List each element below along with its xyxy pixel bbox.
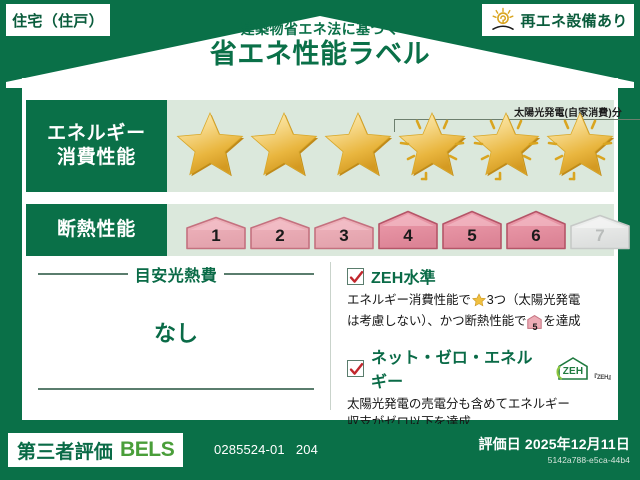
svg-text:ZEH: ZEH bbox=[563, 366, 583, 377]
star-solar bbox=[395, 109, 469, 183]
zeh-desc-part3: を達成 bbox=[543, 314, 580, 328]
energy-head-line2: 消費性能 bbox=[57, 146, 136, 170]
zeh-logo-subtext: 『ZEH』 bbox=[591, 372, 614, 381]
insulation-level-3: 3 bbox=[313, 216, 375, 250]
insulation-level-number: 3 bbox=[313, 226, 375, 246]
insulation-head-text: 断熱性能 bbox=[57, 218, 136, 242]
zeh-standard-block: ZEH水準 エネルギー消費性能で3つ（太陽光発電 は考慮しない）、かつ断熱性能で… bbox=[347, 264, 614, 334]
inline-house-number: 5 bbox=[527, 321, 542, 334]
insulation-performance-label-head: 断熱性能 bbox=[26, 204, 167, 256]
net-zero-title-row: ネット・ゼロ・エネルギー ZEH 『ZEH』 bbox=[347, 344, 614, 392]
utility-cost-bottom-rule bbox=[38, 388, 314, 390]
zeh-desc-part2: は考慮しない）、かつ断熱性能で bbox=[347, 314, 526, 328]
net-zero-checkbox[interactable] bbox=[347, 360, 364, 377]
zeh-panel: ZEH水準 エネルギー消費性能で3つ（太陽光発電 は考慮しない）、かつ断熱性能で… bbox=[330, 262, 614, 410]
page-title: 建築物省エネ法に基づく 省エネ性能ラベル bbox=[0, 22, 640, 72]
star-filled bbox=[173, 109, 247, 183]
insulation-level-6: 6 bbox=[505, 210, 567, 250]
title-main: 省エネ性能ラベル bbox=[0, 38, 640, 72]
bels-badge: 第三者評価 BELS bbox=[8, 433, 183, 467]
lower-section: 目安光熱費 なし ZEH水準 エネルギー消費性能で3つ（太陽光発電 bbox=[22, 262, 614, 410]
star-rating bbox=[173, 109, 617, 183]
net-zero-energy-block: ネット・ゼロ・エネルギー ZEH 『ZEH』 太陽光発電の売電分も含めてエネルギ… bbox=[347, 344, 614, 431]
insulation-performance-row: 断熱性能 1 bbox=[26, 204, 614, 256]
insulation-level-number: 4 bbox=[377, 226, 439, 246]
star-solar bbox=[543, 109, 617, 183]
energy-performance-body: 太陽光発電(自家消費)分 bbox=[167, 100, 614, 192]
utility-cost-panel: 目安光熱費 なし bbox=[22, 262, 330, 410]
star-solar bbox=[469, 109, 543, 183]
check-icon bbox=[349, 270, 364, 285]
title-subtitle: 建築物省エネ法に基づく bbox=[0, 22, 640, 37]
insulation-level-number: 1 bbox=[185, 226, 247, 246]
zeh-desc-stars: 3つ（太陽光発電 bbox=[487, 293, 580, 307]
insulation-level-number: 5 bbox=[441, 226, 503, 246]
utility-cost-value: なし bbox=[22, 316, 330, 348]
evaluation-hash: 5142a788-e5ca-44b4 bbox=[548, 455, 630, 465]
inline-house-icon: 5 bbox=[527, 315, 542, 334]
zeh-standard-title-row: ZEH水準 bbox=[347, 264, 614, 288]
utility-cost-header: 目安光熱費 bbox=[22, 262, 330, 286]
energy-performance-label: 住宅（住戸） 再エネ設備あり bbox=[0, 0, 640, 480]
star-filled bbox=[321, 109, 395, 183]
bels-badge-en: BELS bbox=[120, 438, 174, 462]
bels-number: 0285524-01 204 bbox=[214, 442, 318, 457]
zeh-desc-part1: エネルギー消費性能で bbox=[347, 293, 471, 307]
evaluation-date: 評価日 2025年12月11日 bbox=[478, 434, 630, 454]
insulation-level-5: 5 bbox=[441, 210, 503, 250]
energy-head-line1: エネルギー bbox=[47, 122, 146, 146]
zeh-standard-checkbox[interactable] bbox=[347, 268, 364, 285]
insulation-level-7: 7 bbox=[569, 214, 631, 250]
net-zero-title: ネット・ゼロ・エネルギー bbox=[371, 344, 546, 392]
energy-performance-label-head: エネルギー 消費性能 bbox=[26, 100, 167, 192]
footer: 第三者評価 BELS 0285524-01 204 評価日 2025年12月11… bbox=[0, 424, 640, 480]
check-icon bbox=[349, 362, 364, 377]
zeh-logo: ZEH 『ZEH』 bbox=[556, 356, 614, 381]
insulation-level-number: 6 bbox=[505, 226, 567, 246]
bels-badge-jp: 第三者評価 bbox=[17, 437, 113, 464]
insulation-level-number: 2 bbox=[249, 226, 311, 246]
insulation-level-scale: 1 2 3 bbox=[185, 210, 631, 250]
insulation-level-1: 1 bbox=[185, 216, 247, 250]
utility-cost-title: 目安光熱費 bbox=[135, 262, 217, 286]
insulation-performance-body: 1 2 3 bbox=[167, 204, 614, 256]
insulation-level-2: 2 bbox=[249, 216, 311, 250]
energy-performance-row: エネルギー 消費性能 太陽光発電(自家消費)分 bbox=[26, 100, 614, 192]
insulation-level-number: 7 bbox=[569, 226, 631, 246]
rule-left bbox=[38, 273, 128, 275]
net-zero-desc-line1: 太陽光発電の売電分も含めてエネルギー bbox=[347, 397, 570, 411]
zeh-standard-title: ZEH水準 bbox=[371, 264, 436, 288]
inline-star-icon bbox=[472, 296, 486, 310]
insulation-level-4: 4 bbox=[377, 210, 439, 250]
star-filled bbox=[247, 109, 321, 183]
rule-right bbox=[224, 273, 314, 275]
zeh-standard-description: エネルギー消費性能で3つ（太陽光発電 は考慮しない）、かつ断熱性能で5を達成 bbox=[347, 291, 614, 334]
zeh-house-icon: ZEH bbox=[556, 356, 590, 381]
